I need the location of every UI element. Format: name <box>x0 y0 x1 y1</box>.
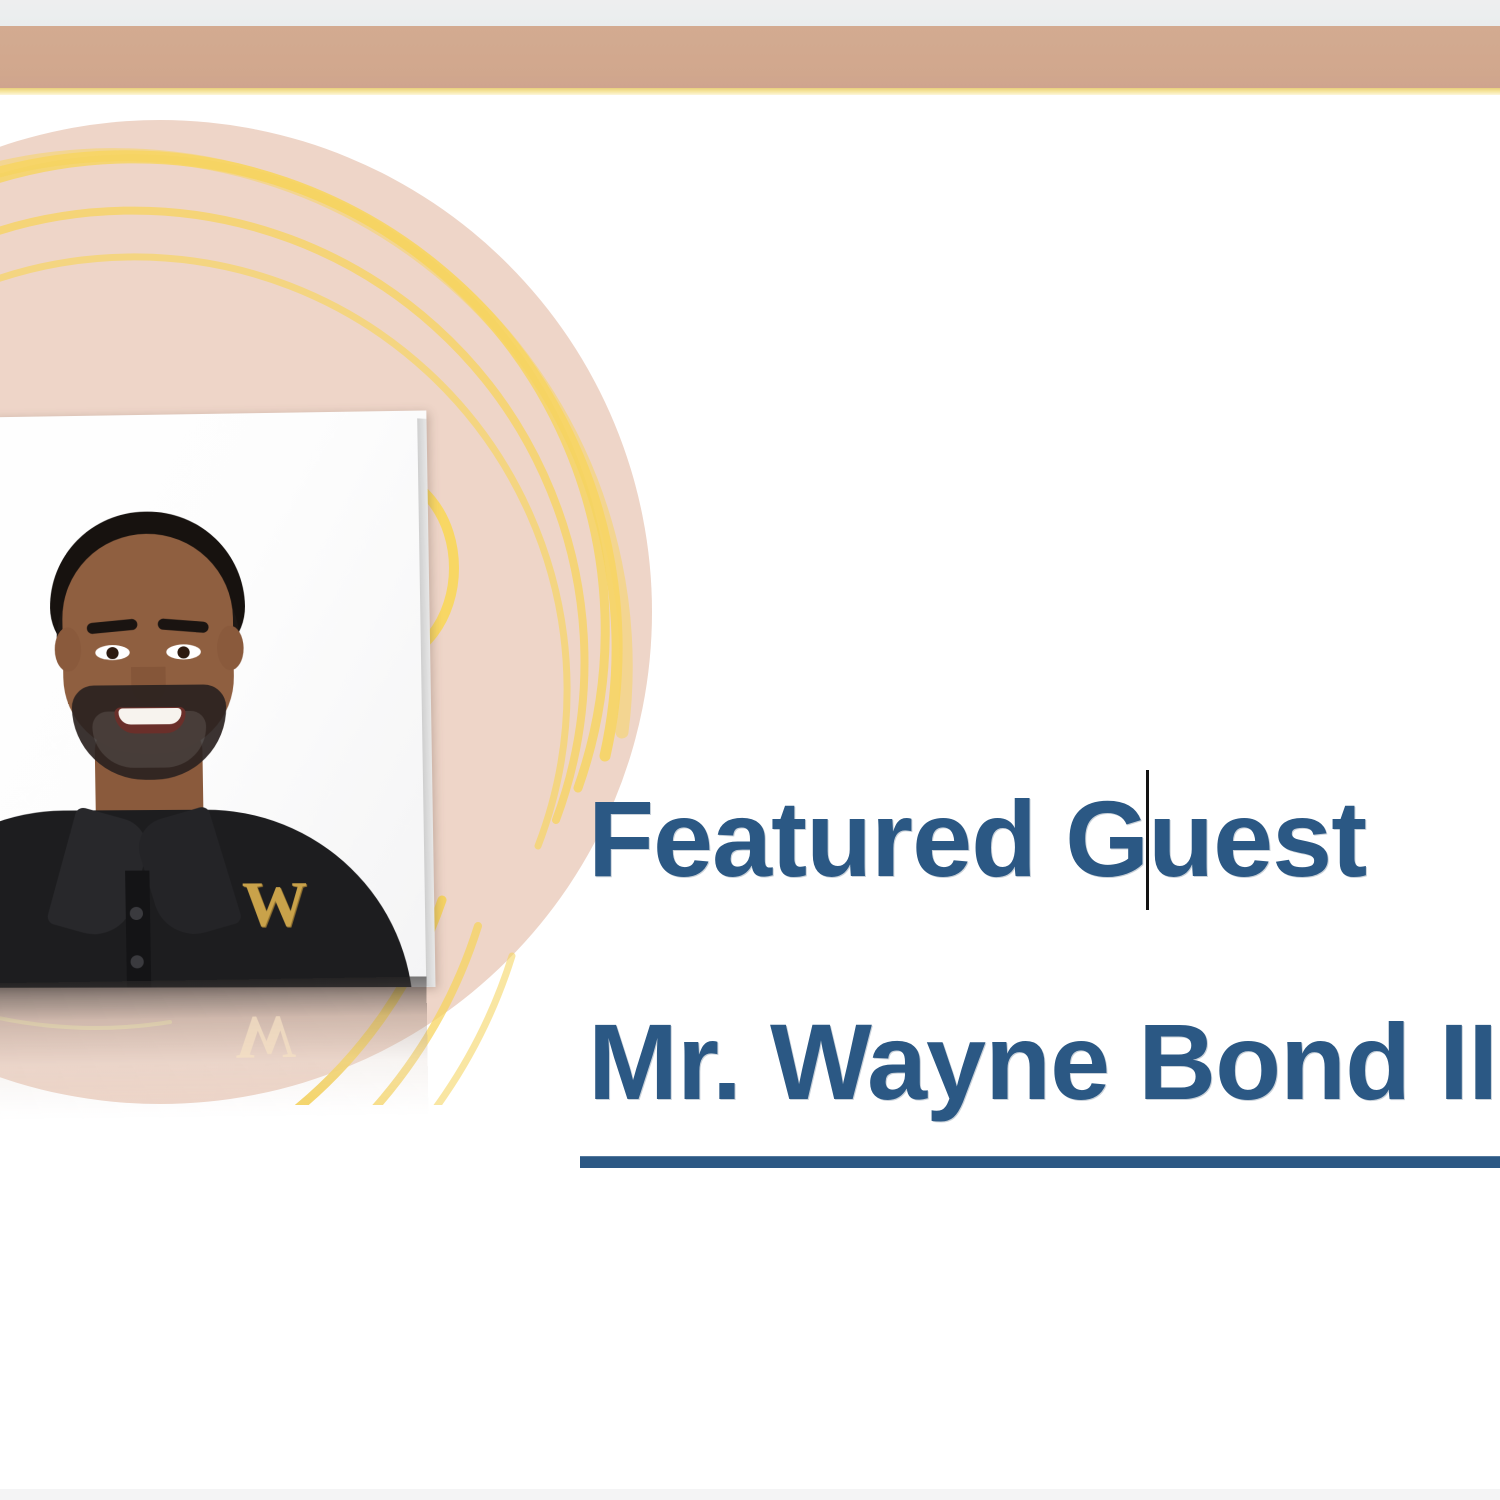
portrait-button-bottom <box>130 955 143 968</box>
portrait-button-top <box>130 907 143 920</box>
window-bottom-strip <box>0 1489 1500 1500</box>
presentation-slide: W W Featured Guest Mr. Wayne Bond II <box>0 0 1500 1500</box>
slide-accent-band <box>0 26 1500 88</box>
photo-reflection: W <box>0 976 429 1122</box>
portrait-ear-left <box>54 627 81 672</box>
slide-headline-part-a: Featured G <box>588 778 1148 899</box>
window-top-strip <box>0 0 1500 26</box>
slide-gold-rule <box>0 88 1500 95</box>
slide-headline[interactable]: Featured Guest <box>588 770 1500 910</box>
w-logo-reflection-icon: W <box>232 1009 296 1064</box>
portrait-placket <box>125 871 151 989</box>
slide-text-block: Featured Guest Mr. Wayne Bond II <box>588 770 1500 1124</box>
slide-headline-part-b: uest <box>1148 778 1366 899</box>
guest-name-underline <box>580 1156 1500 1168</box>
w-logo-icon: W <box>241 876 305 935</box>
guest-name[interactable]: Mr. Wayne Bond II <box>588 1000 1500 1124</box>
photo-card-frame: W <box>0 410 436 988</box>
portrait-teeth <box>118 708 181 725</box>
portrait-ear-right <box>217 626 244 671</box>
featured-guest-photo: W W <box>0 420 420 1120</box>
portrait-illustration: W <box>0 410 436 988</box>
